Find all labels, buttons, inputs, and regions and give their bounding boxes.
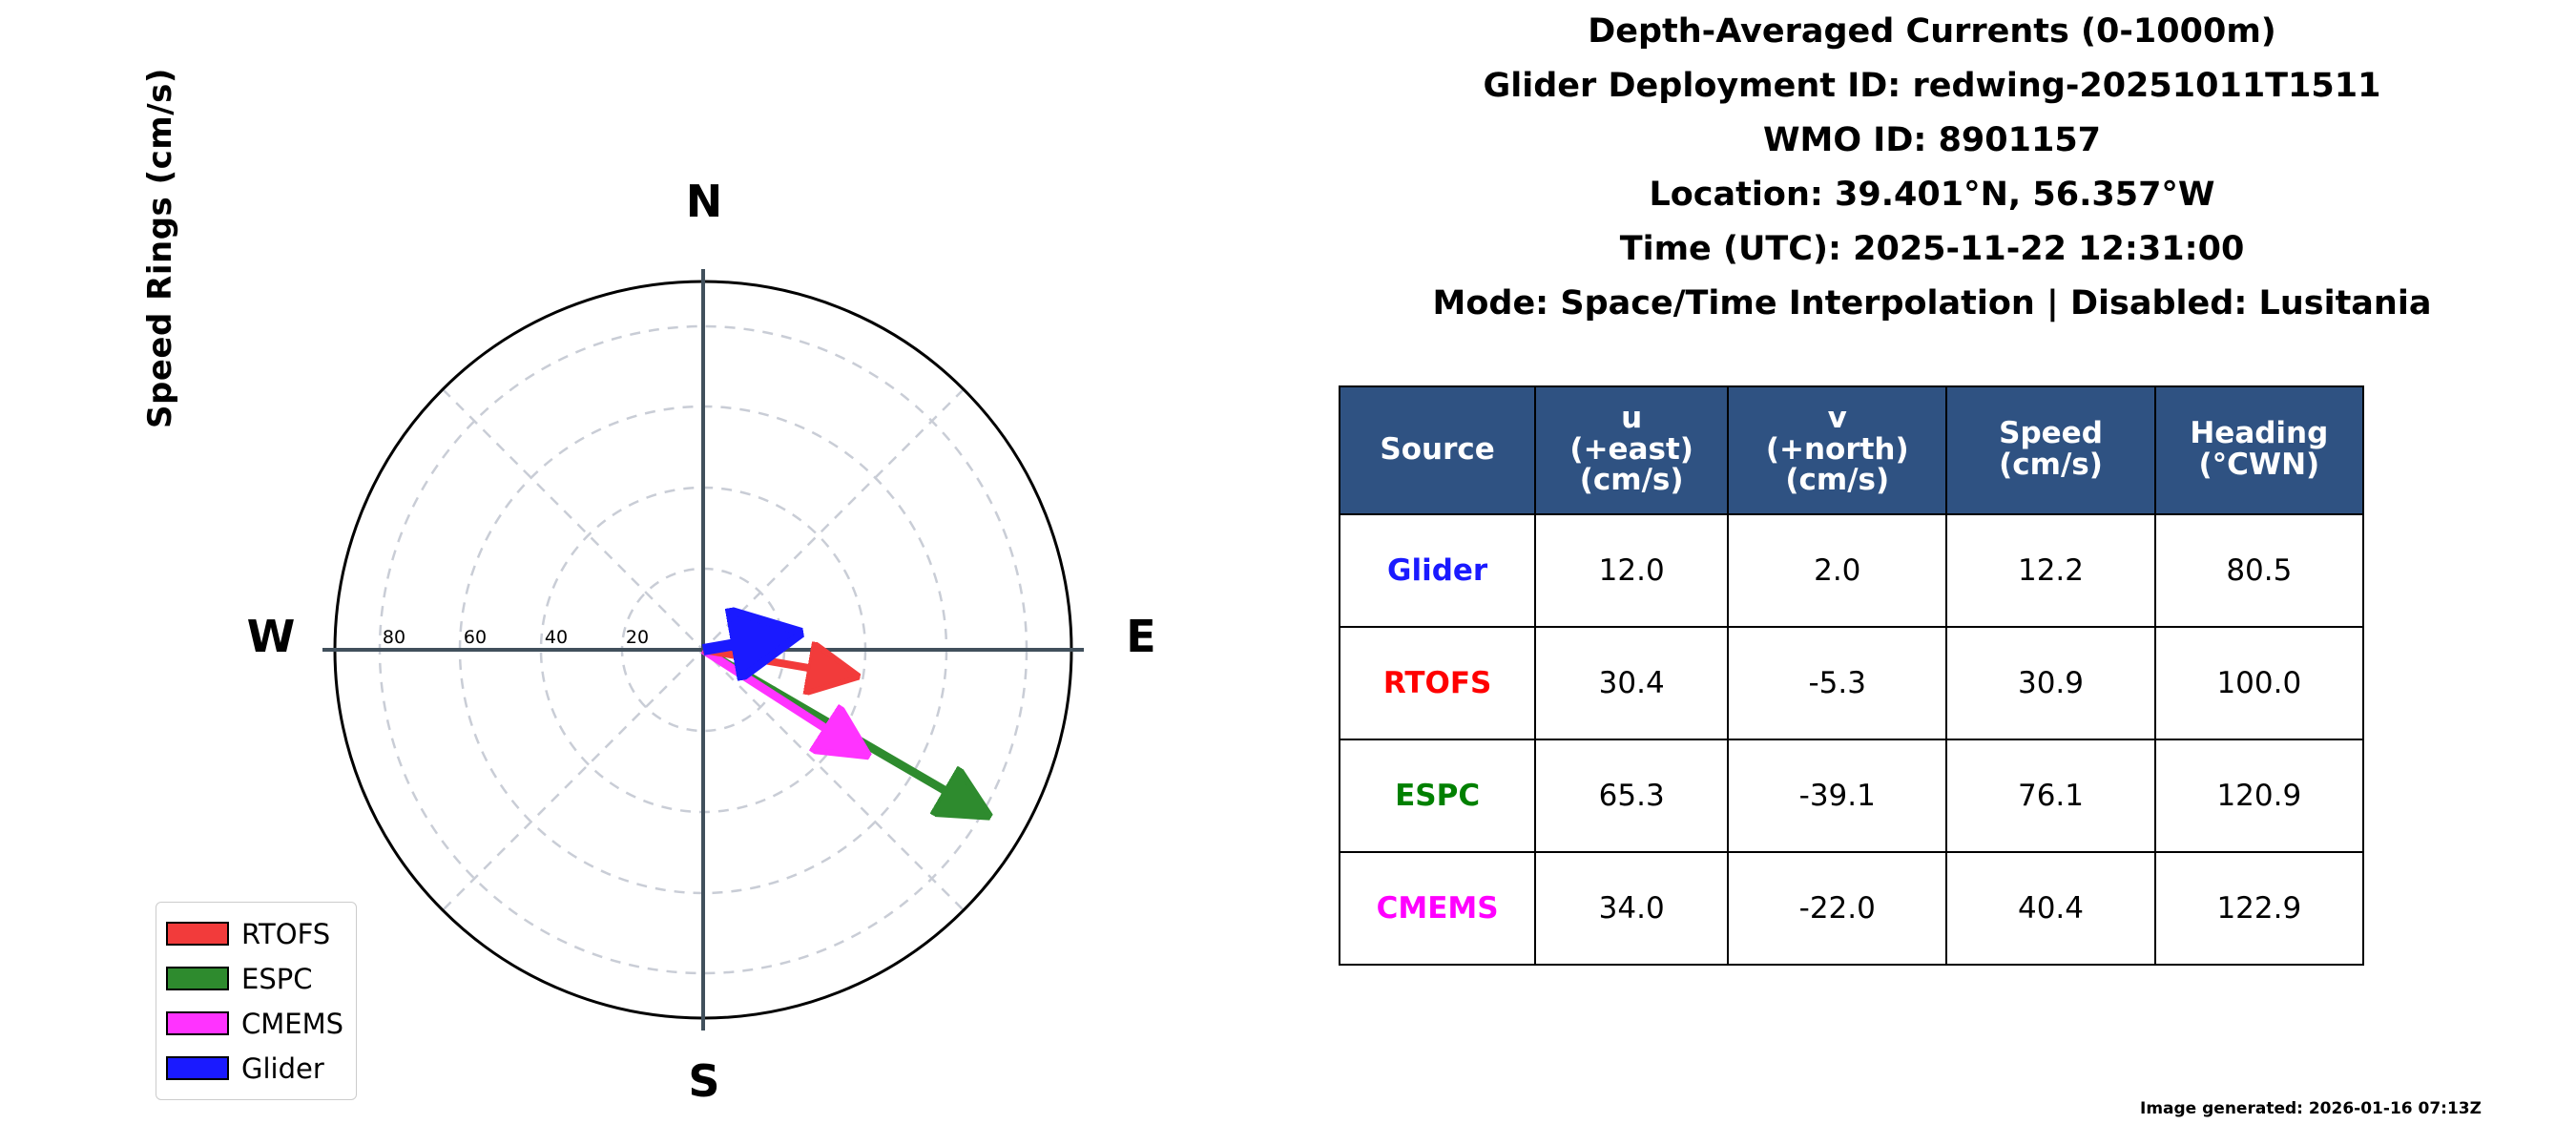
legend: RTOFS ESPC CMEMS Glider [156, 902, 357, 1100]
cell-source-espc: ESPC [1340, 739, 1535, 852]
polar-plot-panel: Speed Rings (cm/s) N S W E 80 60 40 20 R… [0, 0, 1288, 1145]
cell-u-glider: 12.0 [1535, 514, 1728, 627]
column-header-source-l1: Source [1344, 434, 1530, 466]
cell-u-espc: 65.3 [1535, 739, 1728, 852]
ring-label-20: 20 [613, 627, 661, 648]
legend-item-cmems[interactable]: CMEMS [166, 1001, 343, 1046]
legend-swatch-espc [166, 967, 229, 990]
column-header-speed-l1: Speed [1951, 418, 2150, 449]
column-header-u-l3: (cm/s) [1540, 465, 1723, 496]
legend-item-rtofs[interactable]: RTOFS [166, 911, 343, 956]
ring-label-80: 80 [370, 627, 418, 648]
currents-table-wrapper: Source u (+east) (cm/s) v (+north) (cm/s… [1339, 385, 2364, 966]
title-line-mode: Mode: Space/Time Interpolation | Disable… [1288, 287, 2576, 321]
title-line-wmo-id: WMO ID: 8901157 [1288, 124, 2576, 157]
ring-label-40: 40 [532, 627, 580, 648]
legend-item-espc[interactable]: ESPC [166, 956, 343, 1001]
column-header-v: v (+north) (cm/s) [1728, 386, 1946, 514]
legend-swatch-glider [166, 1056, 229, 1080]
cell-source-cmems: CMEMS [1340, 852, 1535, 965]
legend-swatch-cmems [166, 1011, 229, 1035]
table-header-row: Source u (+east) (cm/s) v (+north) (cm/s… [1340, 386, 2363, 514]
cell-v-espc: -39.1 [1728, 739, 1946, 852]
column-header-heading-l2: (°CWN) [2160, 449, 2358, 481]
info-panel: Depth-Averaged Currents (0-1000m) Glider… [1288, 0, 2576, 1145]
table-row: Glider 12.0 2.0 12.2 80.5 [1340, 514, 2363, 627]
cell-speed-rtofs: 30.9 [1946, 627, 2154, 739]
radial-axis-label: Speed Rings (cm/s) [141, 0, 179, 496]
currents-table: Source u (+east) (cm/s) v (+north) (cm/s… [1339, 385, 2364, 966]
column-header-u-l1: u [1540, 403, 1723, 434]
cell-speed-cmems: 40.4 [1946, 852, 2154, 965]
title-block: Depth-Averaged Currents (0-1000m) Glider… [1288, 15, 2576, 342]
column-header-u-l2: (+east) [1540, 434, 1723, 466]
cardinal-label-south: S [670, 1059, 738, 1103]
title-line-heading: Depth-Averaged Currents (0-1000m) [1288, 15, 2576, 49]
cell-heading-rtofs: 100.0 [2155, 627, 2363, 739]
column-header-speed-l2: (cm/s) [1951, 449, 2150, 481]
cardinal-label-west: W [237, 614, 305, 658]
column-header-speed: Speed (cm/s) [1946, 386, 2154, 514]
column-header-source: Source [1340, 386, 1535, 514]
column-header-v-l2: (+north) [1733, 434, 1942, 466]
cell-source-rtofs: RTOFS [1340, 627, 1535, 739]
cardinal-label-east: E [1107, 614, 1175, 658]
cell-v-glider: 2.0 [1728, 514, 1946, 627]
legend-label-cmems: CMEMS [241, 1008, 343, 1040]
table-row: ESPC 65.3 -39.1 76.1 120.9 [1340, 739, 2363, 852]
column-header-heading: Heading (°CWN) [2155, 386, 2363, 514]
cell-v-rtofs: -5.3 [1728, 627, 1946, 739]
vector-glider [703, 642, 747, 650]
title-line-location: Location: 39.401°N, 56.357°W [1288, 178, 2576, 212]
column-header-v-l3: (cm/s) [1733, 465, 1942, 496]
cell-heading-espc: 120.9 [2155, 739, 2363, 852]
title-line-time: Time (UTC): 2025-11-22 12:31:00 [1288, 233, 2576, 266]
cell-v-cmems: -22.0 [1728, 852, 1946, 965]
title-line-deployment: Glider Deployment ID: redwing-20251011T1… [1288, 70, 2576, 103]
legend-swatch-rtofs [166, 922, 229, 946]
column-header-u: u (+east) (cm/s) [1535, 386, 1728, 514]
cell-source-glider: Glider [1340, 514, 1535, 627]
legend-label-espc: ESPC [241, 963, 312, 995]
column-header-v-l1: v [1733, 403, 1942, 434]
legend-item-glider[interactable]: Glider [166, 1046, 343, 1091]
table-row: RTOFS 30.4 -5.3 30.9 100.0 [1340, 627, 2363, 739]
cell-heading-cmems: 122.9 [2155, 852, 2363, 965]
image-generated-note: Image generated: 2026-01-16 07:13Z [2140, 1099, 2482, 1118]
cell-heading-glider: 80.5 [2155, 514, 2363, 627]
cell-speed-glider: 12.2 [1946, 514, 2154, 627]
cardinal-label-north: N [670, 179, 738, 223]
ring-label-60: 60 [451, 627, 499, 648]
cell-u-rtofs: 30.4 [1535, 627, 1728, 739]
legend-label-rtofs: RTOFS [241, 918, 330, 950]
table-row: CMEMS 34.0 -22.0 40.4 122.9 [1340, 852, 2363, 965]
legend-label-glider: Glider [241, 1052, 324, 1085]
cell-speed-espc: 76.1 [1946, 739, 2154, 852]
column-header-heading-l1: Heading [2160, 418, 2358, 449]
cell-u-cmems: 34.0 [1535, 852, 1728, 965]
